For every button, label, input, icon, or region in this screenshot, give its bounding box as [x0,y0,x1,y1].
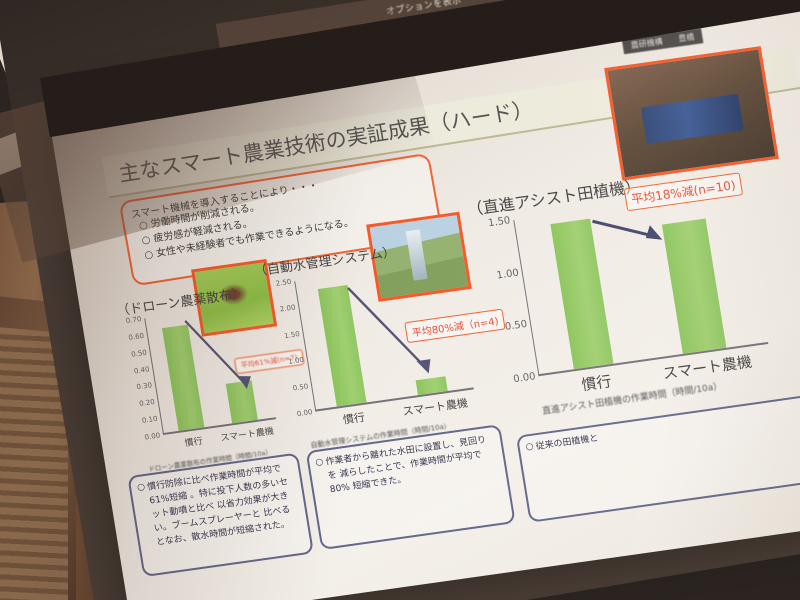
y-axis [294,281,316,411]
y-tick: 2.50 [275,278,292,288]
y-tick: 0.50 [504,319,528,333]
x-tick-label: 慣行 [342,409,366,428]
x-tick-label: スマート農機 [219,424,274,444]
y-tick: 1.50 [284,330,301,340]
plot-area: 1.50 1.00 0.50 0.00 慣行 スマート農機 [513,188,768,376]
y-tick: 1.50 [487,215,511,229]
y-tick: 0.60 [128,332,145,342]
rice-planting-machine-photo [604,46,779,181]
x-tick-label: 慣行 [184,434,204,449]
photo-of-projected-slide: オプションを表示 農研機構 農研機構 農業の未来を指し示しています！ 実証成果（… [0,0,800,600]
y-tick: 0.00 [144,432,161,442]
x-tick-label: 慣行 [580,370,613,395]
y-tick: 1.00 [496,267,520,281]
y-tick: 0.50 [292,382,309,392]
y-tick: 0.30 [136,382,153,392]
note-line: 従来の田植機と [535,434,599,453]
bullet-icon: ○ [136,482,145,493]
bullet-icon: ○ [525,442,534,453]
y-tick: 2.00 [279,304,296,314]
y-axis [513,220,539,376]
y-tick: 0.70 [125,315,142,325]
y-tick: 0.00 [513,371,537,385]
y-tick: 0.00 [296,408,313,418]
y-tick: 0.40 [133,365,150,375]
y-tick: 0.20 [139,398,156,408]
note-line: 短縮できた。 [352,475,407,492]
y-tick: 0.50 [131,348,148,358]
x-tick-label: スマート農機 [401,394,469,419]
bullet-icon: ○ [315,457,324,468]
y-tick: 0.10 [141,415,158,425]
decrease-arrow [590,208,677,265]
